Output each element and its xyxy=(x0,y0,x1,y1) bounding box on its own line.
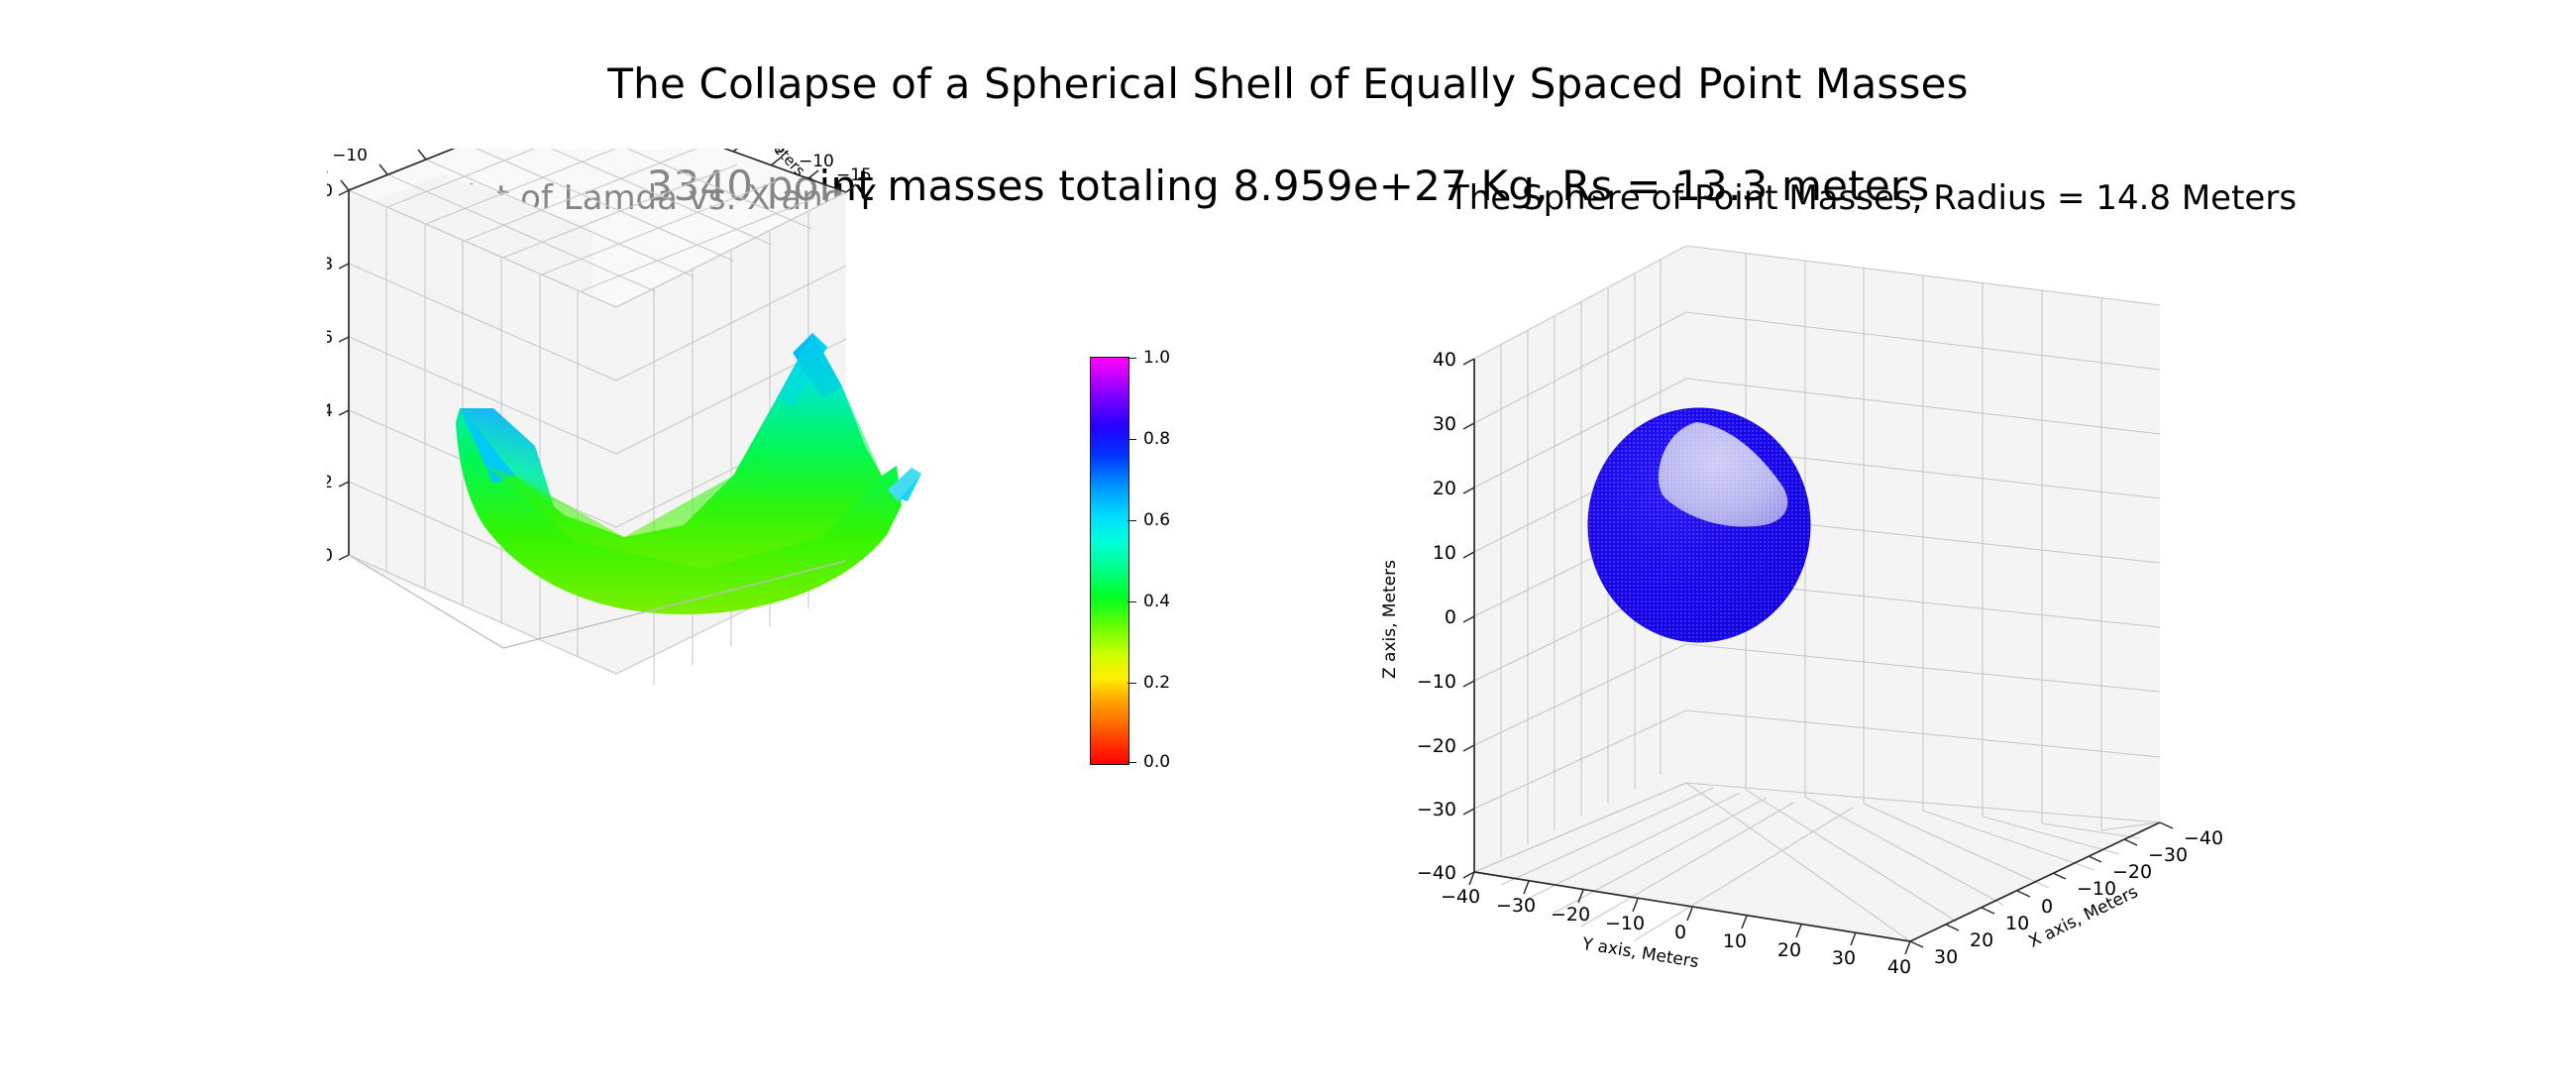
right-ytick-0: −40 xyxy=(1441,886,1480,908)
right-z-axis-label: Z axis, Meters xyxy=(1380,560,1400,679)
colorbar: 1.0 0.8 0.6 0.4 0.2 0.0 xyxy=(1090,357,1229,773)
right-ytick-7: 30 xyxy=(1832,947,1856,969)
left-ztick-2: 0.6 xyxy=(306,328,333,348)
right-ztick-3: 10 xyxy=(1433,542,1456,564)
figure-canvas: The Collapse of a Spherical Shell of Equ… xyxy=(0,0,2576,1090)
right-scatter-plot: 40 30 20 10 0 −10 −20 −30 −40 Z axis, Me… xyxy=(1466,228,2507,1040)
left-z-axis-label: Lamda axis xyxy=(262,344,279,429)
right-ztick-0: 40 xyxy=(1433,349,1456,371)
right-xtick-3: 0 xyxy=(2041,896,2053,918)
left-ytick-1: −10 xyxy=(332,146,368,165)
colorbar-gradient xyxy=(1090,357,1129,765)
right-ytick-5: 10 xyxy=(1723,930,1747,952)
colorbar-label-0-0: 0.0 xyxy=(1143,752,1170,772)
colorbar-label-0-6: 0.6 xyxy=(1143,510,1170,530)
right-ztick-8: −40 xyxy=(1417,862,1456,884)
colorbar-label-0-2: 0.2 xyxy=(1143,673,1170,693)
right-ytick-2: −20 xyxy=(1551,904,1590,926)
right-z-axis: 40 30 20 10 0 −10 −20 −30 −40 Z axis, Me… xyxy=(1380,349,1474,884)
colorbar-label-1-0: 1.0 xyxy=(1143,348,1170,368)
left-ztick-4: 0.2 xyxy=(306,473,333,492)
colorbar-tickmark xyxy=(1127,520,1136,521)
suptitle-line-1: The Collapse of a Spherical Shell of Equ… xyxy=(0,58,2576,109)
right-ztick-1: 30 xyxy=(1433,413,1456,435)
left-surface-plot: 1.0 0.8 0.6 0.4 0.2 0.0 Lamda axis xyxy=(327,149,1080,832)
left-ztick-5: 0.0 xyxy=(306,546,333,566)
right-xtick-7: −40 xyxy=(2184,827,2223,849)
colorbar-label-0-4: 0.4 xyxy=(1143,592,1170,611)
right-xtick-2: 10 xyxy=(2005,913,2029,934)
left-ztick-3: 0.4 xyxy=(306,401,333,421)
right-ztick-7: −30 xyxy=(1417,799,1456,820)
right-xtick-0: 30 xyxy=(1934,946,1958,968)
right-ztick-2: 20 xyxy=(1433,478,1456,499)
right-ytick-3: −10 xyxy=(1605,913,1645,934)
right-xtick-5: −20 xyxy=(2112,861,2152,883)
colorbar-tickmark xyxy=(1127,683,1136,684)
right-ztick-6: −20 xyxy=(1417,735,1456,757)
right-ytick-6: 20 xyxy=(1777,939,1801,961)
right-ytick-1: −30 xyxy=(1496,895,1536,917)
colorbar-tickmark xyxy=(1127,601,1136,602)
colorbar-tickmark xyxy=(1127,439,1136,440)
right-xtick-1: 20 xyxy=(1970,929,1993,951)
colorbar-label-0-8: 0.8 xyxy=(1143,429,1170,449)
right-ztick-5: −10 xyxy=(1417,671,1456,693)
right-xtick-6: −30 xyxy=(2148,844,2188,866)
colorbar-tickmark xyxy=(1127,762,1136,763)
colorbar-tickmark xyxy=(1127,358,1136,359)
left-xtick-6: −15 xyxy=(836,165,872,185)
right-ytick-8: 40 xyxy=(1887,956,1911,978)
right-ztick-4: 0 xyxy=(1445,606,1456,628)
right-plot-title: The Sphere of Point Masses, Radius = 14.… xyxy=(1318,178,2427,218)
right-ytick-4: 0 xyxy=(1674,922,1686,943)
